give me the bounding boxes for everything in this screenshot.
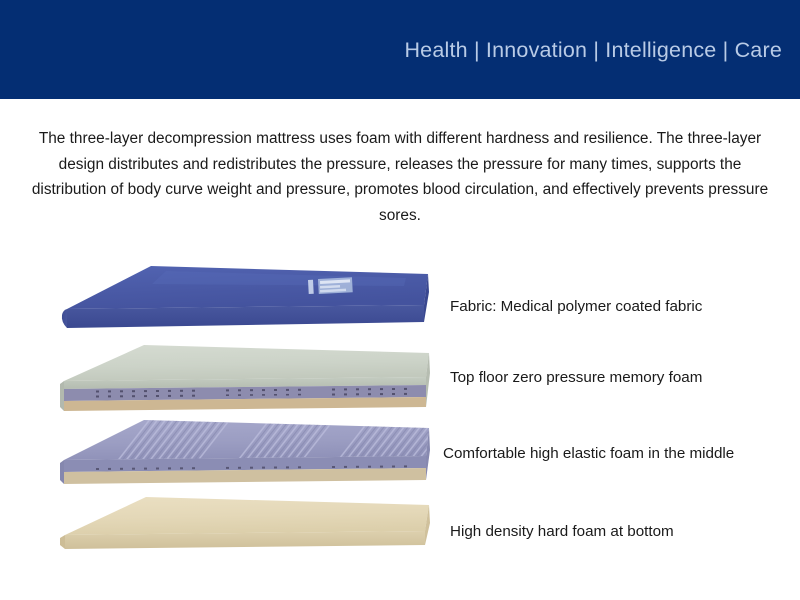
header-tagline: Health | Innovation | Intelligence | Car…: [404, 38, 782, 63]
layer-caption-hard-foam: High density hard foam at bottom: [450, 523, 674, 540]
high-density-hard-foam-slab-photo: [56, 493, 428, 571]
memory-foam-slab-photo: [56, 343, 428, 421]
header-band: Health | Innovation | Intelligence | Car…: [0, 0, 800, 99]
mattress-layers-diagram: Fabric: Medical polymer coated fabric: [0, 250, 800, 570]
layer-row-elastic-foam: Comfortable high elastic foam in the mid…: [0, 418, 800, 496]
layer-row-fabric: Fabric: Medical polymer coated fabric: [0, 262, 800, 348]
layer-caption-memory-foam: Top floor zero pressure memory foam: [450, 369, 702, 386]
layer-row-hard-foam: High density hard foam at bottom: [0, 493, 800, 571]
intro-paragraph: The three-layer decompression mattress u…: [24, 126, 776, 228]
layer-row-memory-foam: Top floor zero pressure memory foam: [0, 343, 800, 421]
layer-caption-fabric: Fabric: Medical polymer coated fabric: [450, 298, 702, 315]
blue-covered-mattress-photo: [56, 262, 428, 348]
layer-caption-elastic-foam: Comfortable high elastic foam in the mid…: [443, 445, 734, 462]
high-elastic-foam-slab-photo: [56, 418, 428, 496]
